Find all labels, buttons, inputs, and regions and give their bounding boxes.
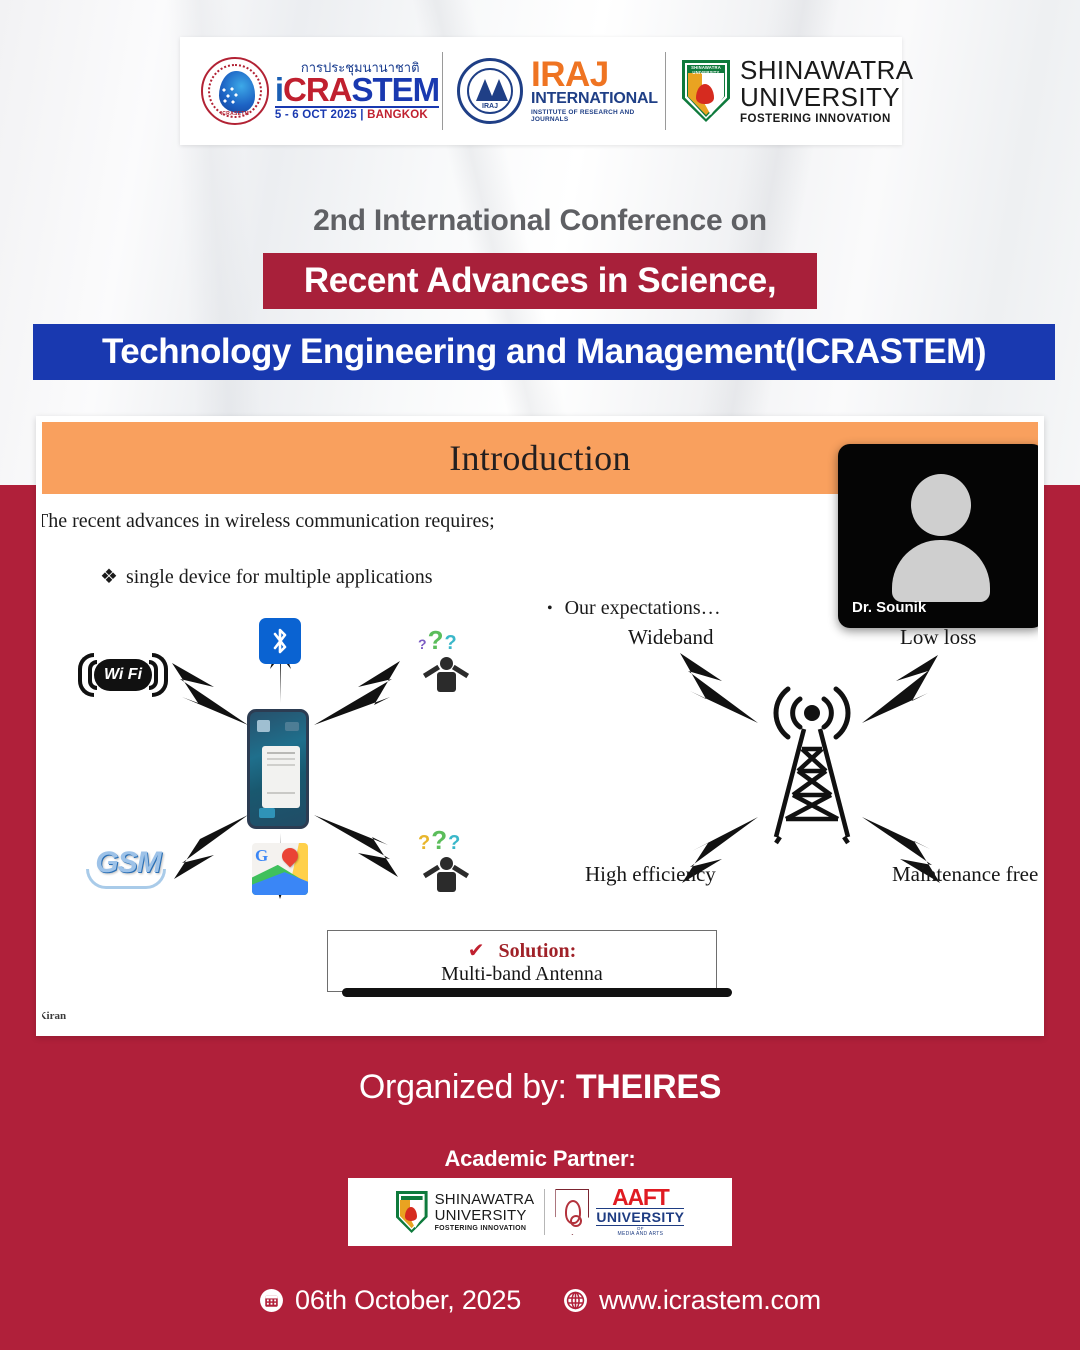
partner-shinawatra-line2: UNIVERSITY [435,1208,535,1223]
iraj-seal-icon: IRAJ [457,58,523,124]
google-maps-icon: G [252,841,308,897]
label-high-efficiency: High efficiency [585,862,716,887]
icrastem-title-cra: CRA [283,75,352,105]
dot-bullet-icon: • [547,600,553,617]
antenna-tower-icon [752,675,872,845]
header-logo-strip: ICRASETM การประชุมนานาชาติ i CRA STEM 5 … [180,37,902,145]
avatar-head-icon [911,474,971,536]
event-date-text: 06th October, 2025 [295,1285,521,1316]
aaft-knot-icon [565,1200,581,1224]
partner-shinawatra-shield-icon [396,1191,428,1233]
academic-partner-label: Academic Partner: [0,1146,1080,1172]
label-maintenance-free: Maintenance free [892,862,1038,887]
bluetooth-icon [258,617,302,665]
partner-shinawatra-tagline: FOSTERING INNOVATION [435,1225,535,1232]
solution-box-shadow [342,988,732,997]
diamond-bullet-icon: ❖ [100,566,118,588]
iraj-seal-text: IRAJ [460,103,520,110]
academic-partner-logos: SHINAWATRA UNIVERSITY FOSTERING INNOVATI… [348,1178,732,1246]
label-wideband: Wideband [628,625,713,650]
website-text: www.icrastem.com [599,1285,821,1316]
iraj-tagline: INSTITUTE OF RESEARCH AND JOURNALS [531,109,665,123]
icrastem-title-i: i [275,75,283,105]
iraj-logo: IRAJ IRAJ INTERNATIONAL INSTITUTE OF RES… [443,37,665,145]
solution-value: Multi-band Antenna [328,963,716,986]
slide-title: Introduction [449,437,631,479]
confused-person-icon-1: ??? [412,629,482,703]
wifi-icon: Wi Fi [80,649,166,701]
gsm-icon: GSM [80,835,176,891]
slide-bullet-one: ❖single device for multiple applications [100,564,433,589]
aaft-university-label: UNIVERSITY [596,1208,684,1226]
iraj-triangle-right [490,79,508,101]
right-diagram: Wideband Low loss High efficiency Mainte… [562,617,1038,917]
event-date-item: 06th October, 2025 [259,1285,521,1316]
organized-by-prefix: Organized by: [359,1068,576,1106]
gmap-g-letter: G [255,846,268,866]
shinawatra-logo: SHINAWATRA UNIVERSITY SHINAWATRA UNIVERS… [666,37,913,145]
calendar-icon [259,1288,284,1313]
slide-bullet-one-text: single device for multiple applications [126,566,433,588]
iraj-subtitle: INTERNATIONAL [531,91,665,107]
confused-person-icon-2: ??? [412,829,482,903]
partner-divider [544,1189,545,1235]
solution-label: Solution: [498,940,576,962]
partner-shinawatra-line1: SHINAWATRA [435,1192,535,1207]
icrastem-seal-text: ICRASETM [203,111,267,117]
conference-title-line-1: Recent Advances in Science, [263,253,817,309]
label-low-loss: Low loss [900,625,976,650]
smartphone-icon [247,709,309,829]
avatar-body-icon [892,540,990,602]
check-icon: ✔ [468,940,485,962]
slide-expectations-text: Our expectations… [565,597,721,619]
shinawatra-shield-icon: SHINAWATRA UNIVERSITY [682,60,730,122]
conference-title-line-2: Technology Engineering and Management(IC… [33,324,1055,380]
globe-icon [563,1288,588,1313]
shinawatra-tagline: FOSTERING INNOVATION [740,113,913,125]
partner-shinawatra-logo: SHINAWATRA UNIVERSITY FOSTERING INNOVATI… [390,1178,535,1246]
icrastem-rule [275,106,439,108]
bluetooth-glyph [269,626,291,656]
solution-box: ✔Solution: Multi-band Antenna [327,930,717,992]
partner-aaft-logo: AAFT UNIVERSITY OF MEDIA AND ARTS [555,1178,690,1246]
presentation-slide-frame: Introduction The recent advances in wire… [36,416,1044,1036]
participant-name: Dr. Sounik [852,599,926,616]
website-item[interactable]: www.icrastem.com [563,1285,821,1316]
icrastem-seal-icon: ICRASETM [201,57,269,125]
icrastem-city: BANGKOK [367,109,428,121]
aaft-shield-icon [555,1189,589,1235]
footer-info-bar: 06th October, 2025 www.icrastem.com [0,1285,1080,1316]
slide-footer-note: Kiran [42,1010,66,1022]
presentation-slide: Introduction The recent advances in wire… [42,422,1038,1030]
organizer-name: THEIRES [576,1068,721,1106]
aaft-media-label: MEDIA AND ARTS [617,1231,663,1237]
conference-pretitle: 2nd International Conference on [0,204,1080,238]
shinawatra-line2: UNIVERSITY [740,84,913,111]
icrastem-title-stem: STEM [352,75,440,105]
icrastem-date: 5 - 6 OCT 2025 | [275,109,367,121]
video-participant-tile[interactable]: Dr. Sounik [838,444,1038,628]
shinawatra-shield-text: SHINAWATRA UNIVERSITY [682,65,730,76]
iraj-title: IRAJ [531,59,665,91]
left-diagram: Wi Fi GSM G [62,617,517,917]
organized-by: Organized by: THEIRES [0,1068,1080,1107]
network-dots-icon [221,87,241,105]
wifi-label: Wi Fi [94,659,152,691]
icrastem-logo: ICRASETM การประชุมนานาชาติ i CRA STEM 5 … [180,37,442,145]
shinawatra-line1: SHINAWATRA [740,57,913,84]
slide-intro-line: The recent advances in wireless communic… [42,510,495,533]
aaft-name: AAFT [612,1187,669,1208]
